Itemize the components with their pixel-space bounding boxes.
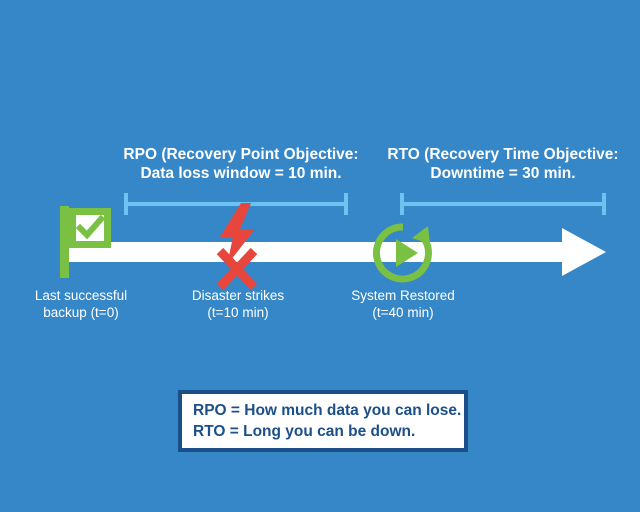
summary-rpo-line: RPO = How much data you can lose.	[193, 400, 464, 421]
flag-check-icon	[56, 206, 116, 278]
summary-rto-line: RTO = Long you can be down.	[193, 421, 464, 442]
disaster-milestone-marker	[210, 203, 266, 291]
summary-callout-box: RPO = How much data you can lose. RTO = …	[178, 390, 468, 452]
rpo-bracket-right-cap	[344, 193, 348, 215]
rto-phase-label: RTO (Recovery Time Objective: Downtime =…	[382, 145, 624, 183]
restore-milestone-caption: System Restored (t=40 min)	[330, 287, 476, 321]
rpo-phase-label: RPO (Recovery Point Objective: Data loss…	[108, 145, 374, 183]
timeline-axis-bar	[64, 242, 564, 262]
lightning-bolt-x-icon	[210, 203, 266, 291]
rto-bracket-bar	[400, 202, 606, 206]
restore-milestone-marker	[372, 222, 434, 284]
timeline-arrowhead-icon	[562, 228, 606, 276]
disaster-milestone-caption: Disaster strikes (t=10 min)	[164, 287, 312, 321]
backup-milestone-marker	[56, 206, 116, 278]
rpo-rto-timeline-diagram: RPO (Recovery Point Objective: Data loss…	[0, 0, 640, 512]
restore-play-icon	[372, 222, 434, 284]
rto-measurement-bracket	[400, 193, 606, 215]
rto-bracket-right-cap	[602, 193, 606, 215]
backup-milestone-caption: Last successful backup (t=0)	[6, 287, 156, 321]
